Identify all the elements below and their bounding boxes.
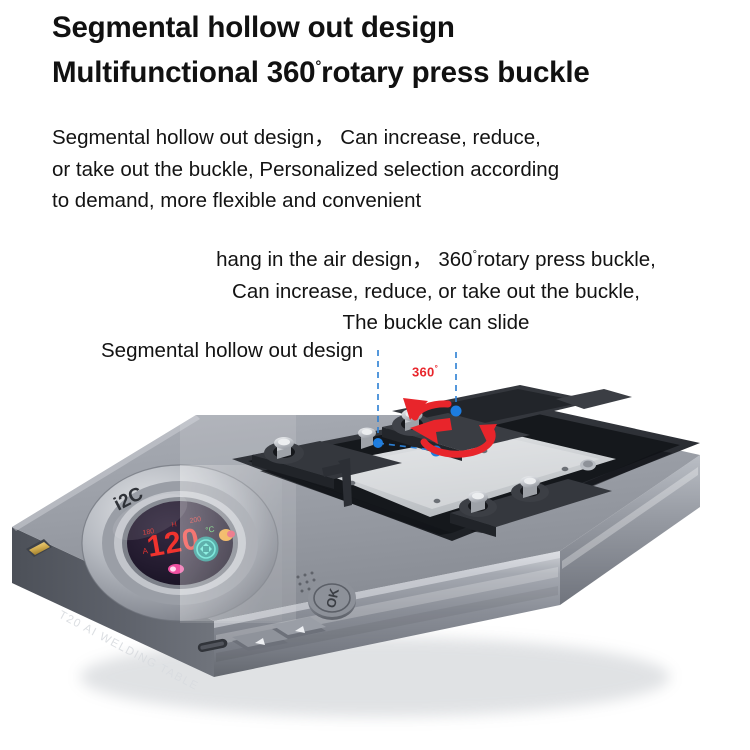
center-line-2: Can increase, reduce, or take out the bu… <box>160 276 712 308</box>
plate-hole <box>481 449 488 453</box>
center-line-1: hang in the air design， 360°rotary press… <box>160 240 712 276</box>
headline-line-1: Segmental hollow out design <box>52 8 742 47</box>
rotation-degree-symbol: ° <box>435 364 439 373</box>
plate-hole <box>434 499 441 503</box>
center-line-1-suffix: rotary press buckle, <box>477 248 656 271</box>
headline-line-2-suffix: rotary press buckle <box>321 56 589 89</box>
description-line-2: or take out the buckle, Personalized sel… <box>52 154 712 186</box>
description-line-1: Segmental hollow out design， Can increas… <box>52 122 712 154</box>
description-paragraph-left: Segmental hollow out design， Can increas… <box>52 122 712 217</box>
plate-hole <box>562 467 569 471</box>
product-infographic-page: Segmental hollow out design Multifunctio… <box>0 0 750 750</box>
description-line-3: to demand, more flexible and convenient <box>52 185 712 217</box>
ok-button[interactable]: OK <box>308 579 356 620</box>
product-illustration: T20 AI WELDING TABLE <box>0 355 750 735</box>
rotation-degree-value: 360 <box>412 364 435 379</box>
center-line-1-prefix: hang in the air design， 360 <box>216 248 472 271</box>
rotation-degree-label: 360° <box>412 364 438 379</box>
center-line-3: The buckle can slide <box>160 307 712 339</box>
headline-line-2: Multifunctional 360°rotary press buckle <box>52 47 742 92</box>
protective-glass-sheet <box>180 391 296 623</box>
description-paragraph-center: hang in the air design， 360°rotary press… <box>160 240 712 339</box>
page-title: Segmental hollow out design Multifunctio… <box>52 8 742 92</box>
headline-line-2-prefix: Multifunctional 360 <box>52 56 315 89</box>
